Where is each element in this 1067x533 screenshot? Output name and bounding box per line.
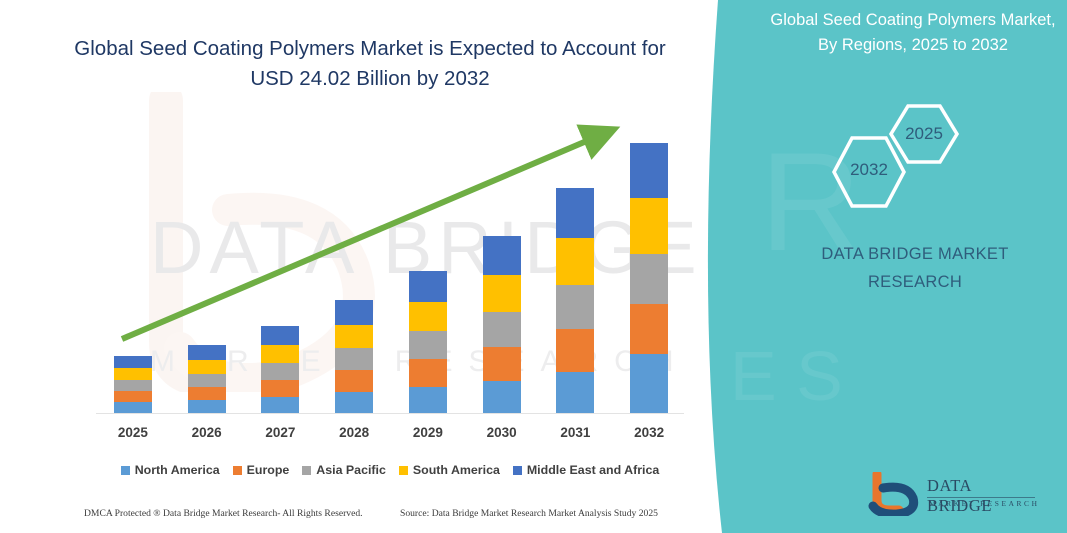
bar-segment — [409, 387, 447, 413]
bar-segment — [335, 370, 373, 392]
x-axis-line — [96, 413, 684, 414]
bar-column — [114, 356, 152, 413]
bar-segment — [630, 254, 668, 304]
logo-text-secondary: MARKET RESEARCH — [929, 499, 1040, 508]
bar-segment — [409, 359, 447, 387]
bar-segment — [114, 380, 152, 391]
infographic-canvas: DATA BRIDGE MARKET RESEARCH Global Seed … — [0, 0, 1067, 533]
legend-swatch — [513, 466, 522, 475]
legend-label: Europe — [247, 463, 290, 477]
bar-column — [556, 188, 594, 413]
legend-item[interactable]: North America — [121, 463, 220, 477]
footer-source: Source: Data Bridge Market Research Mark… — [400, 508, 658, 519]
x-axis-labels: 20252026202720282029203020312032 — [96, 425, 686, 447]
logo-divider — [927, 497, 1035, 498]
bar-segment — [335, 325, 373, 348]
bar-segment — [188, 374, 226, 387]
databridge-logo: DATA BRIDGE MARKET RESEARCH — [865, 472, 1040, 518]
bar-segment — [483, 275, 521, 312]
bar-segment — [483, 347, 521, 381]
panel-brand-name: DATA BRIDGE MARKET RESEARCH — [790, 240, 1040, 296]
legend-swatch — [302, 466, 311, 475]
legend-item[interactable]: Europe — [233, 463, 290, 477]
hexagon-2032-label: 2032 — [837, 160, 901, 180]
bar-segment — [188, 400, 226, 413]
legend-label: Asia Pacific — [316, 463, 386, 477]
bar-segment — [261, 397, 299, 413]
bar-column — [335, 300, 373, 413]
bar-segment — [630, 304, 668, 354]
bar-segment — [630, 198, 668, 254]
legend-label: North America — [135, 463, 220, 477]
bar-segment — [114, 356, 152, 368]
hexagon-2025-label: 2025 — [892, 124, 956, 144]
bar-column — [630, 143, 668, 413]
x-axis-tick-label: 2031 — [540, 425, 610, 440]
chart-plot-area — [96, 110, 686, 413]
legend-item[interactable]: Middle East and Africa — [513, 463, 659, 477]
hexagon-badges: 2025 2032 — [820, 100, 1020, 210]
footer-copyright: DMCA Protected ® Data Bridge Market Rese… — [84, 508, 363, 519]
bar-segment — [335, 348, 373, 370]
legend-swatch — [233, 466, 242, 475]
bar-segment — [261, 326, 299, 345]
x-axis-tick-label: 2029 — [393, 425, 463, 440]
bar-segment — [188, 387, 226, 400]
bar-segment — [483, 381, 521, 413]
bar-segment — [261, 345, 299, 363]
panel-brand-line2: RESEARCH — [790, 268, 1040, 296]
bar-column — [188, 345, 226, 413]
databridge-logo-icon — [865, 472, 921, 516]
panel-title: Global Seed Coating Polymers Market, By … — [768, 8, 1058, 58]
bar-column — [261, 326, 299, 413]
x-axis-tick-label: 2028 — [319, 425, 389, 440]
chart-title: Global Seed Coating Polymers Market is E… — [60, 34, 680, 94]
x-axis-tick-label: 2032 — [614, 425, 684, 440]
bar-segment — [114, 391, 152, 402]
bar-segment — [556, 238, 594, 285]
bar-segment — [335, 392, 373, 413]
bar-segment — [114, 368, 152, 380]
legend-label: Middle East and Africa — [527, 463, 659, 477]
bar-segment — [188, 345, 226, 360]
x-axis-tick-label: 2030 — [467, 425, 537, 440]
bar-segment — [409, 331, 447, 359]
x-axis-tick-label: 2027 — [245, 425, 315, 440]
bar-column — [483, 236, 521, 413]
bar-segment — [114, 402, 152, 413]
x-axis-tick-label: 2026 — [172, 425, 242, 440]
bar-segment — [483, 312, 521, 347]
bar-segment — [261, 380, 299, 397]
legend-item[interactable]: South America — [399, 463, 500, 477]
bar-segment — [261, 363, 299, 380]
logo-text-primary: DATA BRIDGE — [927, 476, 1040, 516]
bar-column — [409, 271, 447, 413]
bar-segment — [409, 271, 447, 302]
bar-segment — [556, 285, 594, 329]
svg-text:E S: E S — [730, 337, 843, 415]
x-axis-tick-label: 2025 — [98, 425, 168, 440]
bar-segment — [188, 360, 226, 374]
legend-item[interactable]: Asia Pacific — [302, 463, 386, 477]
bar-segment — [630, 143, 668, 198]
bar-segment — [630, 354, 668, 413]
legend-swatch — [121, 466, 130, 475]
bar-segment — [335, 300, 373, 325]
panel-brand-line1: DATA BRIDGE MARKET — [790, 240, 1040, 268]
legend-swatch — [399, 466, 408, 475]
bar-segment — [556, 329, 594, 372]
footer-bar: DMCA Protected ® Data Bridge Market Rese… — [0, 505, 700, 527]
legend-label: South America — [413, 463, 500, 477]
bar-segment — [483, 236, 521, 275]
bar-segment — [409, 302, 447, 331]
chart-legend: North AmericaEuropeAsia PacificSouth Ame… — [100, 461, 680, 479]
bar-segment — [556, 372, 594, 413]
bar-segment — [556, 188, 594, 238]
